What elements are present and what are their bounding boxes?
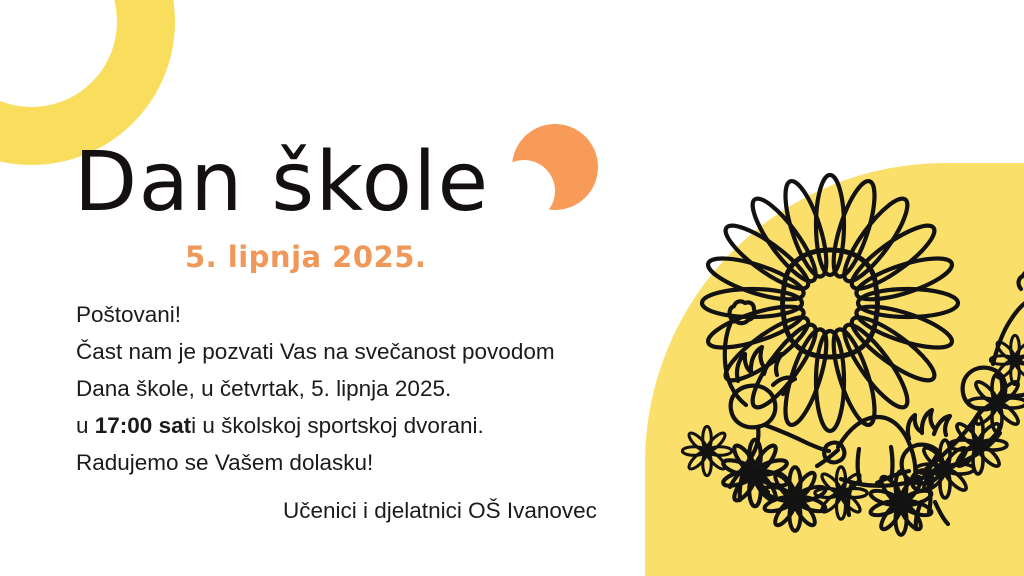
invitation-text: Poštovani! Čast nam je pozvati Vas na sv… [76, 296, 636, 481]
page-title: Dan škole [74, 142, 490, 224]
time-suffix: i u školskoj sportskoj dvorani. [191, 413, 484, 438]
text-line-occasion: Dana škole, u četvrtak, 5. lipnja 2025. [76, 370, 636, 407]
text-line-invite: Čast nam je pozvati Vas na svečanost pov… [76, 333, 636, 370]
text-line-closing: Radujemo se Vašem dolasku! [76, 444, 636, 481]
text-line-time: u 17:00 sati u školskoj sportskoj dvoran… [76, 407, 636, 444]
event-date: 5. lipnja 2025. [185, 240, 426, 274]
small-daisies [682, 335, 1024, 535]
text-line-greeting: Poštovani! [76, 296, 636, 333]
time-prefix: u [76, 413, 95, 438]
orange-circle-notch [493, 160, 555, 222]
poster-canvas: Dan škole 5. lipnja 2025. Poštovani! Čas… [0, 0, 1024, 576]
signature-line: Učenici i djelatnici OŠ Ivanovec [283, 496, 597, 526]
daisy-and-children-illustration [645, 163, 1024, 576]
time-value: 17:00 sat [95, 413, 191, 438]
